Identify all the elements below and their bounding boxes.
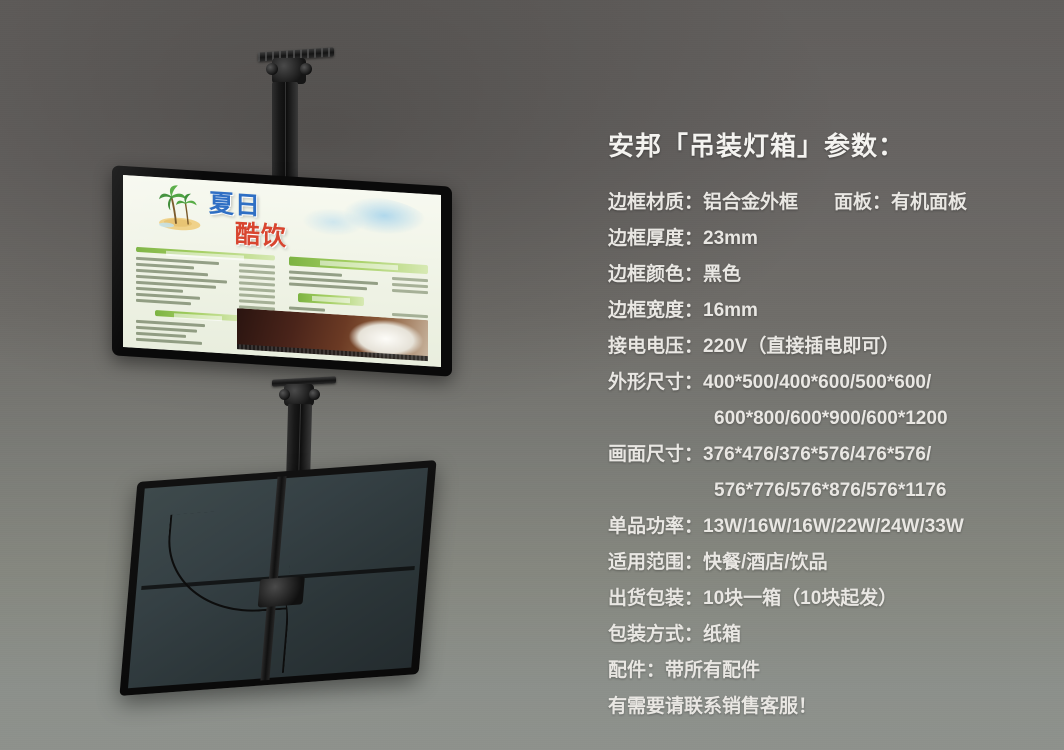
spec-line-frame-width: 边框宽度：16mm <box>608 293 1048 329</box>
spec-line-frame-material: 边框材质：铝合金外框面板：有机面板 <box>608 185 1048 221</box>
spec-value: 23mm <box>703 228 758 249</box>
spec-label: 外形尺寸： <box>608 372 703 393</box>
spec-line-accessories: 配件：带所有配件 <box>608 653 1048 689</box>
product-photo: 夏日 酷饮 <box>0 0 600 750</box>
menu-rows <box>136 255 275 315</box>
spec-value-panel: 有机面板 <box>891 192 967 213</box>
spec-label: 接电电压： <box>608 336 703 357</box>
light-box-back-frame <box>119 460 436 696</box>
mount-joint-knob-bottom-right <box>309 389 320 400</box>
menu-section-heading <box>298 292 365 305</box>
spec-footer-contact: 有需要请联系销售客服！ <box>608 689 1048 725</box>
mount-joint-knob-bottom-left <box>279 389 290 400</box>
spec-line-outer-size-cont: 600*800/600*900/600*1200 <box>608 401 1048 437</box>
spec-label: 画面尺寸： <box>608 444 703 465</box>
spec-panel: 安邦「吊装灯箱」参数： 边框材质：铝合金外框面板：有机面板 边框厚度：23mm … <box>608 126 1048 725</box>
spec-label: 包装方式： <box>608 624 703 645</box>
spec-value: 10块一箱（10块起发） <box>703 588 897 609</box>
spec-value: 16mm <box>703 300 758 321</box>
spec-label: 配件： <box>608 660 665 681</box>
spec-label: 出货包装： <box>608 588 703 609</box>
spec-line-graphic-size-cont: 576*776/576*876/576*1176 <box>608 473 1048 509</box>
spec-label: 边框颜色： <box>608 264 703 285</box>
spec-value: 400*500/400*600/500*600/ <box>703 372 931 393</box>
spec-line-application: 适用范围：快餐/酒店/饮品 <box>608 545 1048 581</box>
spec-line-shipping-pack: 出货包装：10块一箱（10块起发） <box>608 581 1048 617</box>
spec-value: 220V（直接插电即可） <box>703 336 899 357</box>
spec-value: 13W/16W/16W/22W/24W/33W <box>703 516 964 537</box>
spec-value: 快餐/酒店/饮品 <box>703 552 828 573</box>
light-box-back <box>119 460 436 696</box>
pole-seam <box>285 82 286 182</box>
spec-line-packaging: 包装方式：纸箱 <box>608 617 1048 653</box>
mount-joint-knob-top-left <box>266 63 278 75</box>
spec-label-panel: 面板： <box>798 192 891 213</box>
light-box-front: 夏日 酷饮 <box>112 165 452 376</box>
spec-title: 安邦「吊装灯箱」参数： <box>608 126 1048 163</box>
spec-line-power: 单品功率：13W/16W/16W/22W/24W/33W <box>608 509 1048 545</box>
spec-line-voltage: 接电电压：220V（直接插电即可） <box>608 329 1048 365</box>
spec-label: 边框宽度： <box>608 300 703 321</box>
spec-label: 边框厚度： <box>608 228 703 249</box>
spec-label: 边框材质： <box>608 192 703 213</box>
spec-value: 铝合金外框 <box>703 192 798 213</box>
menu-poster: 夏日 酷饮 <box>123 175 441 367</box>
spec-label: 单品功率： <box>608 516 703 537</box>
spec-value: 376*476/376*576/476*576/ <box>703 444 931 465</box>
light-box-panel: 夏日 酷饮 <box>123 175 441 367</box>
spec-line-frame-thickness: 边框厚度：23mm <box>608 221 1048 257</box>
tilt-bracket-block <box>258 576 305 607</box>
spec-line-frame-color: 边框颜色：黑色 <box>608 257 1048 293</box>
spec-line-graphic-size: 画面尺寸：376*476/376*576/476*576/ <box>608 437 1048 473</box>
spec-value: 纸箱 <box>703 624 741 645</box>
mount-pole-top <box>272 82 298 182</box>
spec-value: 黑色 <box>703 264 741 285</box>
spec-value: 带所有配件 <box>665 660 760 681</box>
spec-line-outer-size: 外形尺寸：400*500/400*600/500*600/ <box>608 365 1048 401</box>
mount-joint-knob-top-right <box>300 63 312 75</box>
spec-label: 适用范围： <box>608 552 703 573</box>
